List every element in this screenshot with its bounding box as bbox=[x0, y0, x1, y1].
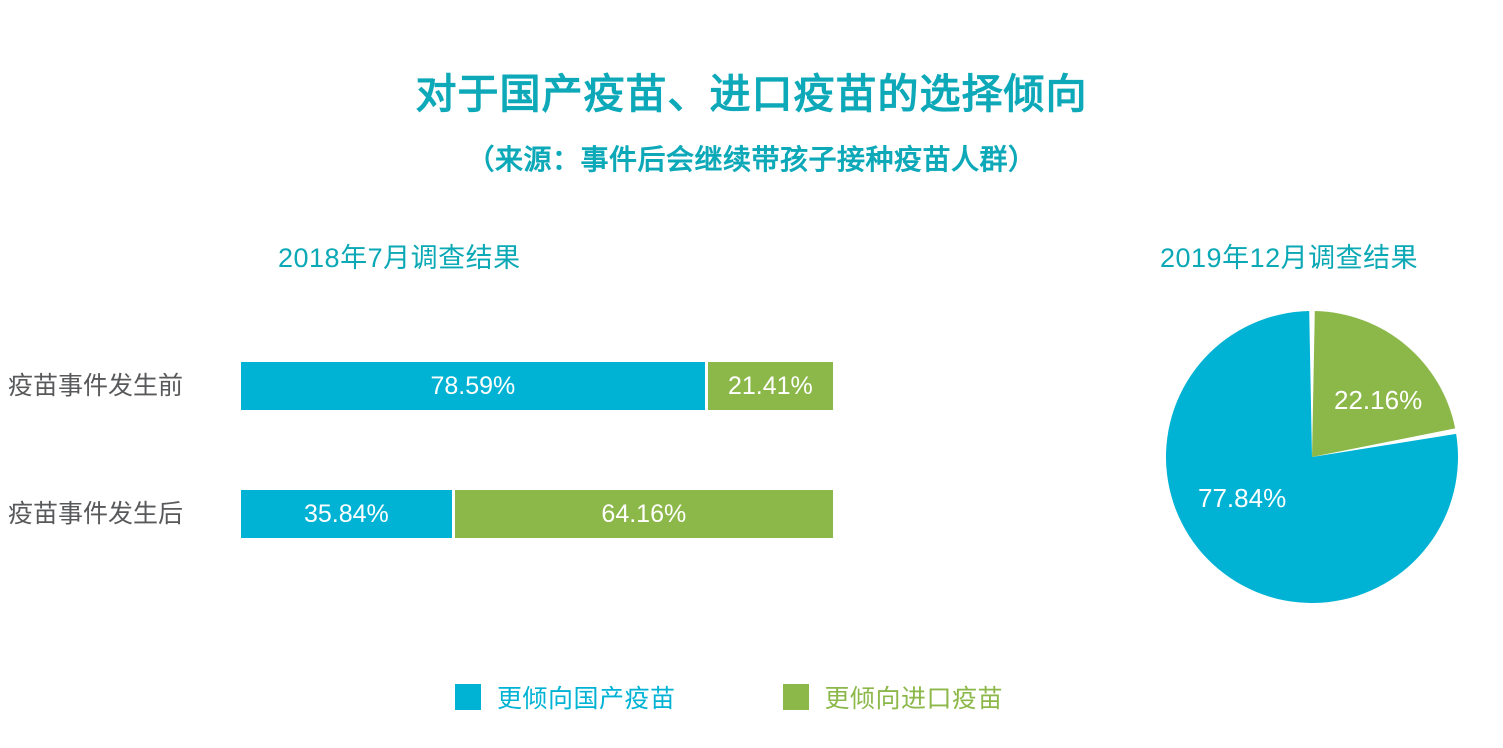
pie-label-domestic: 77.84% bbox=[1198, 483, 1286, 514]
bar-row: 疫苗事件发生前 78.59% 21.41% bbox=[0, 362, 900, 410]
bar-row: 疫苗事件发生后 35.84% 64.16% bbox=[0, 490, 900, 538]
bar-category-label: 疫苗事件发生后 bbox=[8, 490, 226, 538]
legend-item-domestic[interactable]: 更倾向国产疫苗 bbox=[455, 679, 676, 715]
pie-svg bbox=[1166, 311, 1458, 603]
pie-chart: 22.16% 77.84% bbox=[1166, 311, 1458, 603]
legend-item-label: 更倾向进口疫苗 bbox=[825, 679, 1004, 715]
bar-segment-domestic[interactable]: 35.84% bbox=[241, 490, 452, 538]
pie-label-imported: 22.16% bbox=[1334, 385, 1422, 416]
bar-category-label: 疫苗事件发生前 bbox=[8, 362, 226, 410]
legend-item-label: 更倾向国产疫苗 bbox=[497, 679, 676, 715]
legend-swatch-icon bbox=[783, 684, 809, 710]
bar-track: 78.59% 21.41% bbox=[241, 362, 833, 410]
bar-track: 35.84% 64.16% bbox=[241, 490, 833, 538]
stacked-bar-chart: 疫苗事件发生前 78.59% 21.41% 疫苗事件发生后 35.84% 64.… bbox=[0, 340, 900, 560]
legend-item-imported[interactable]: 更倾向进口疫苗 bbox=[783, 679, 1004, 715]
legend-swatch-icon bbox=[455, 684, 481, 710]
page-subtitle: （来源：事件后会继续带孩子接种疫苗人群） bbox=[0, 145, 1503, 176]
chart-canvas: 对于国产疫苗、进口疫苗的选择倾向 （来源：事件后会继续带孩子接种疫苗人群） 20… bbox=[0, 0, 1503, 748]
legend: 更倾向国产疫苗 更倾向进口疫苗 bbox=[455, 682, 1003, 712]
bar-segment-domestic[interactable]: 78.59% bbox=[241, 362, 705, 410]
left-panel-heading: 2018年7月调查结果 bbox=[278, 236, 521, 275]
page-title: 对于国产疫苗、进口疫苗的选择倾向 bbox=[0, 72, 1503, 117]
right-panel-heading: 2019年12月调查结果 bbox=[1160, 236, 1418, 275]
bar-segment-imported[interactable]: 21.41% bbox=[708, 362, 833, 410]
pie-slice-imported[interactable] bbox=[1312, 311, 1455, 457]
bar-segment-imported[interactable]: 64.16% bbox=[455, 490, 833, 538]
